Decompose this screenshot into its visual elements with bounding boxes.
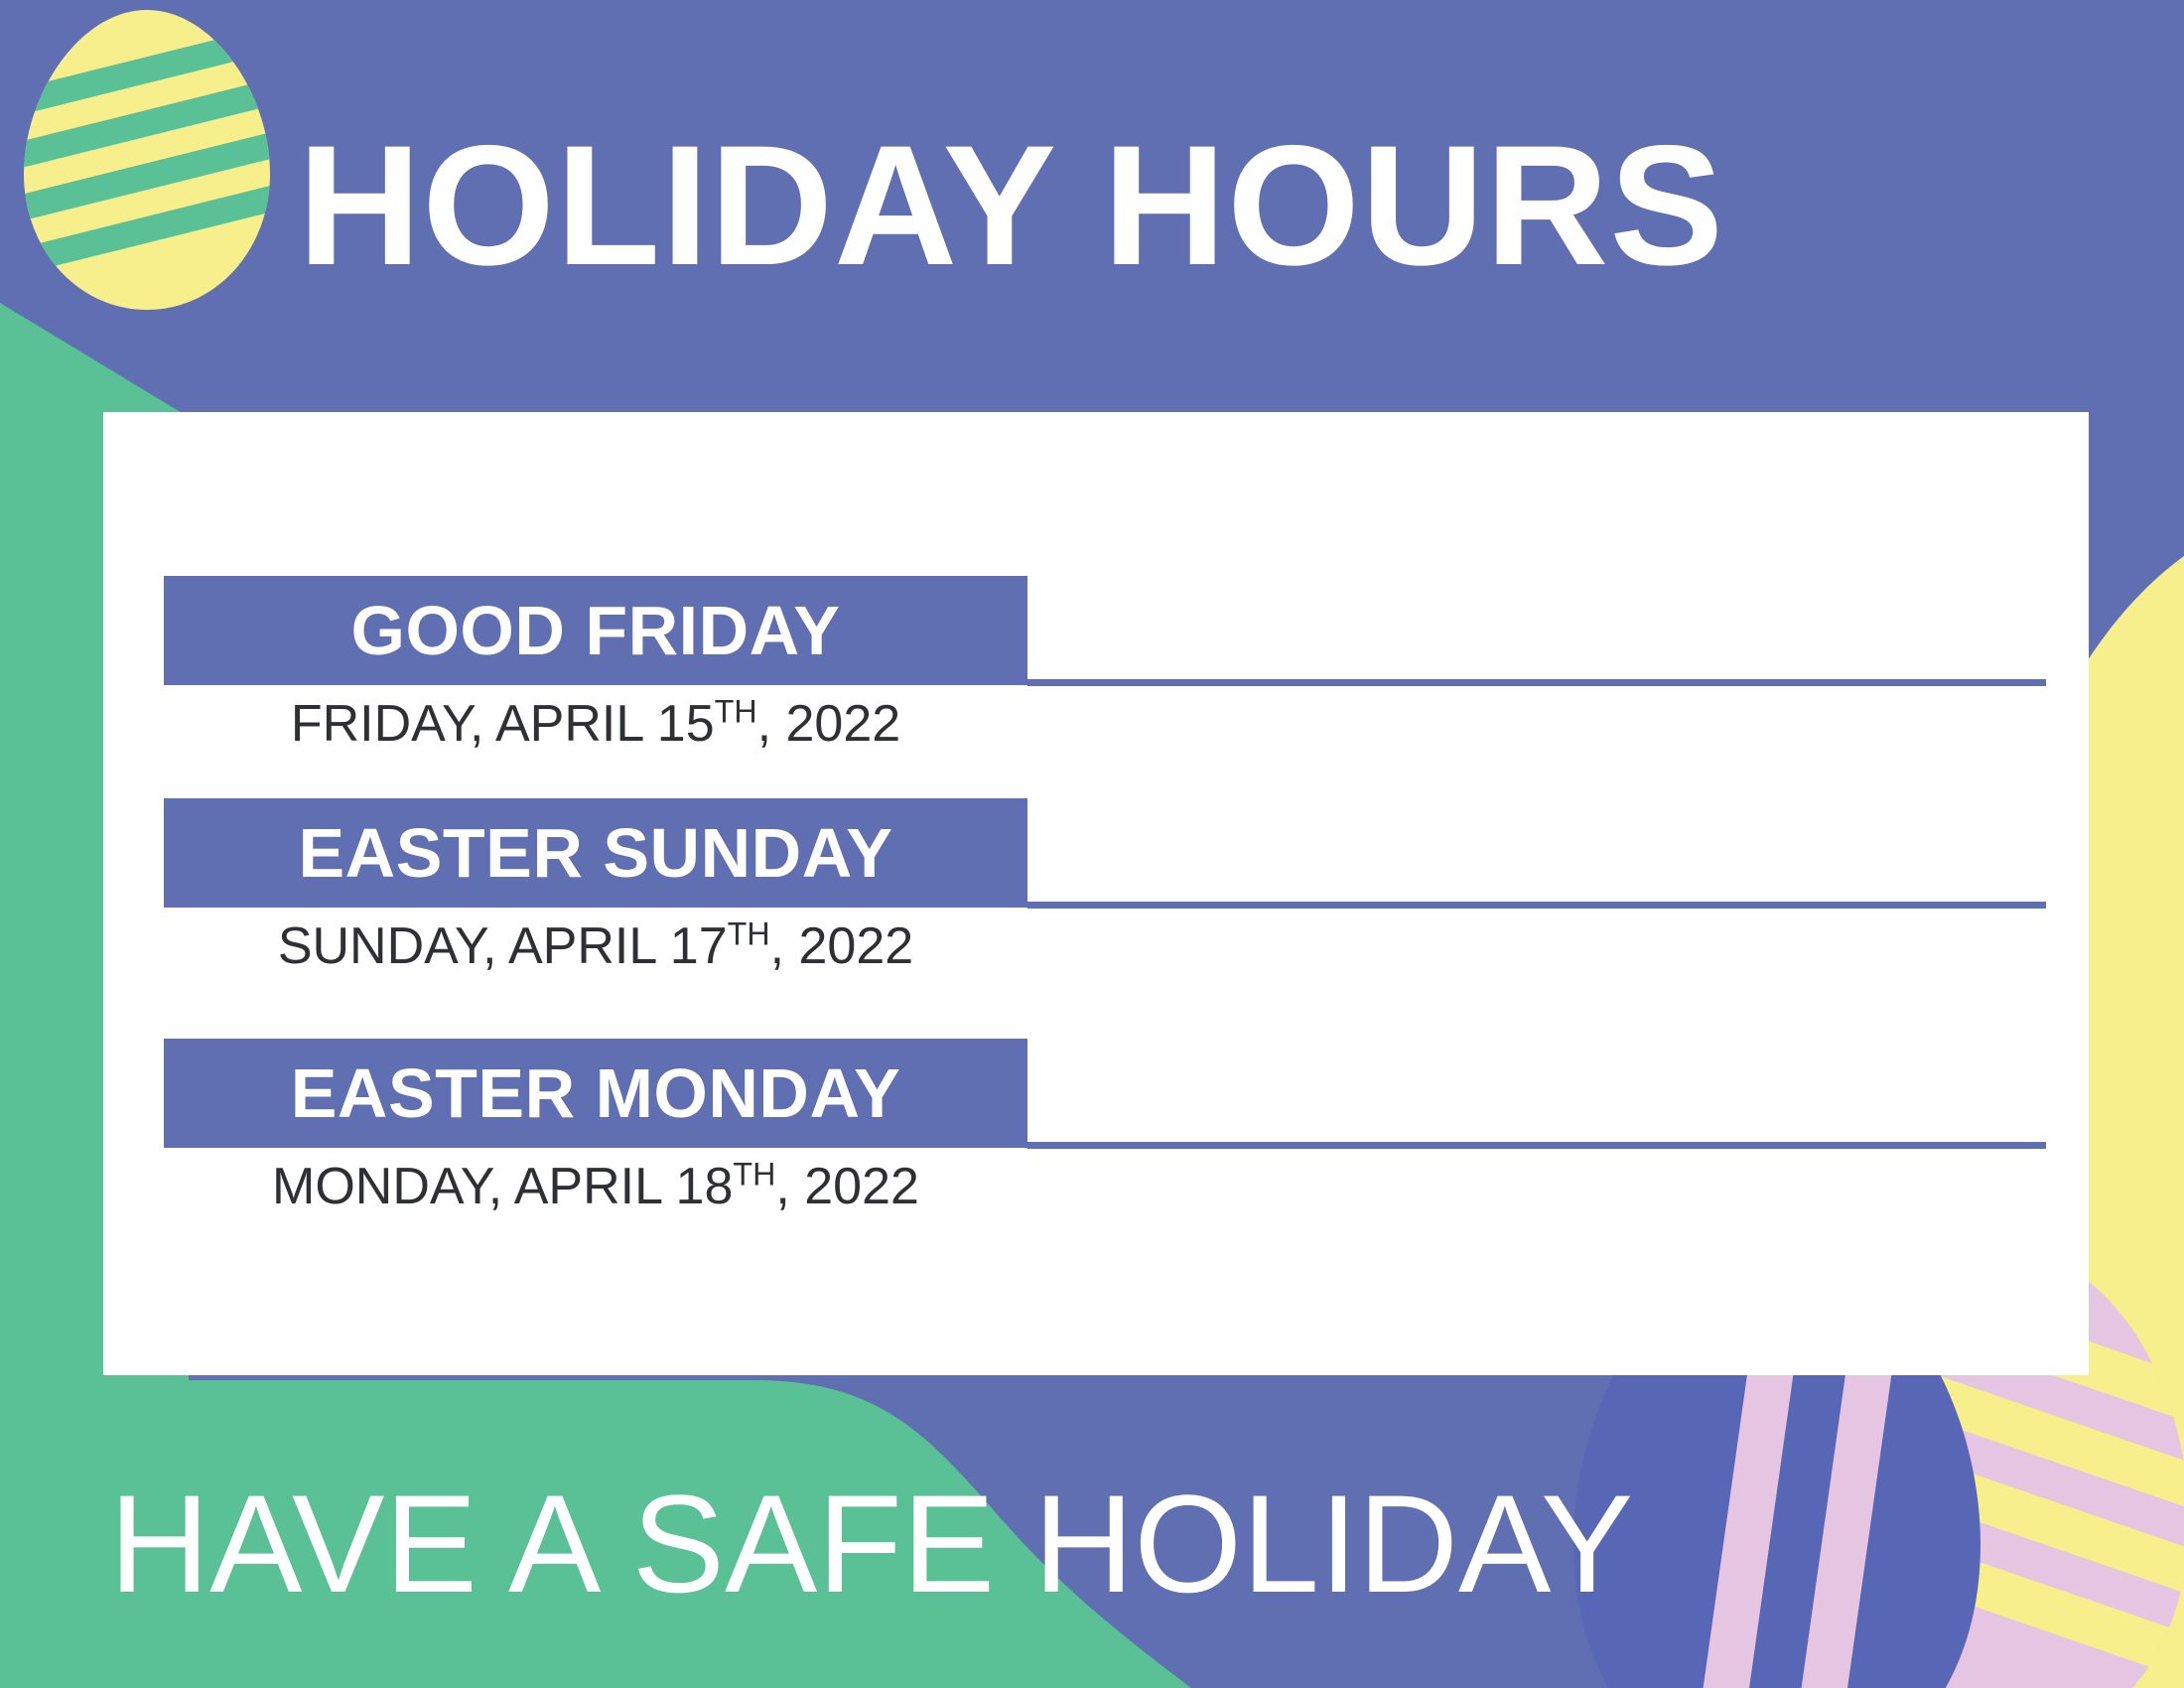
holiday-hours-poster: HOLIDAY HOURS GOOD FRIDAY FRIDAY, APRIL …: [0, 0, 2184, 1688]
hours-write-in-rule: [1027, 679, 2046, 686]
hours-write-in-rule: [1027, 902, 2046, 909]
holiday-date-ordinal-suffix: TH: [733, 1157, 775, 1193]
holiday-date-ordinal-suffix: TH: [728, 916, 770, 952]
holiday-name-label: EASTER MONDAY: [291, 1058, 901, 1128]
holiday-date-weekday: FRIDAY, APRIL 15: [291, 695, 715, 753]
holiday-date-ordinal-suffix: TH: [715, 694, 757, 730]
holiday-date-label: SUNDAY, APRIL 17TH, 2022: [164, 915, 1027, 977]
footer-message: HAVE A SAFE HOLIDAY: [109, 1470, 1698, 1618]
holiday-date-weekday: MONDAY, APRIL 18: [272, 1158, 733, 1215]
holiday-date-weekday: SUNDAY, APRIL 17: [278, 917, 728, 975]
holiday-date-label: MONDAY, APRIL 18TH, 2022: [164, 1156, 1027, 1217]
hours-write-in-rule: [1027, 1142, 2046, 1149]
holiday-name-bar: GOOD FRIDAY: [164, 576, 1027, 685]
holiday-date-label: FRIDAY, APRIL 15TH, 2022: [164, 693, 1027, 755]
holiday-name-label: EASTER SUNDAY: [298, 818, 892, 888]
holiday-date-year: , 2022: [757, 695, 901, 753]
holiday-name-bar: EASTER MONDAY: [164, 1039, 1027, 1148]
holiday-date-year: , 2022: [775, 1158, 919, 1215]
holiday-list: GOOD FRIDAY FRIDAY, APRIL 15TH, 2022 EAS…: [0, 0, 2184, 1688]
holiday-name-label: GOOD FRIDAY: [351, 596, 841, 665]
holiday-name-bar: EASTER SUNDAY: [164, 798, 1027, 908]
holiday-date-year: , 2022: [770, 917, 914, 975]
